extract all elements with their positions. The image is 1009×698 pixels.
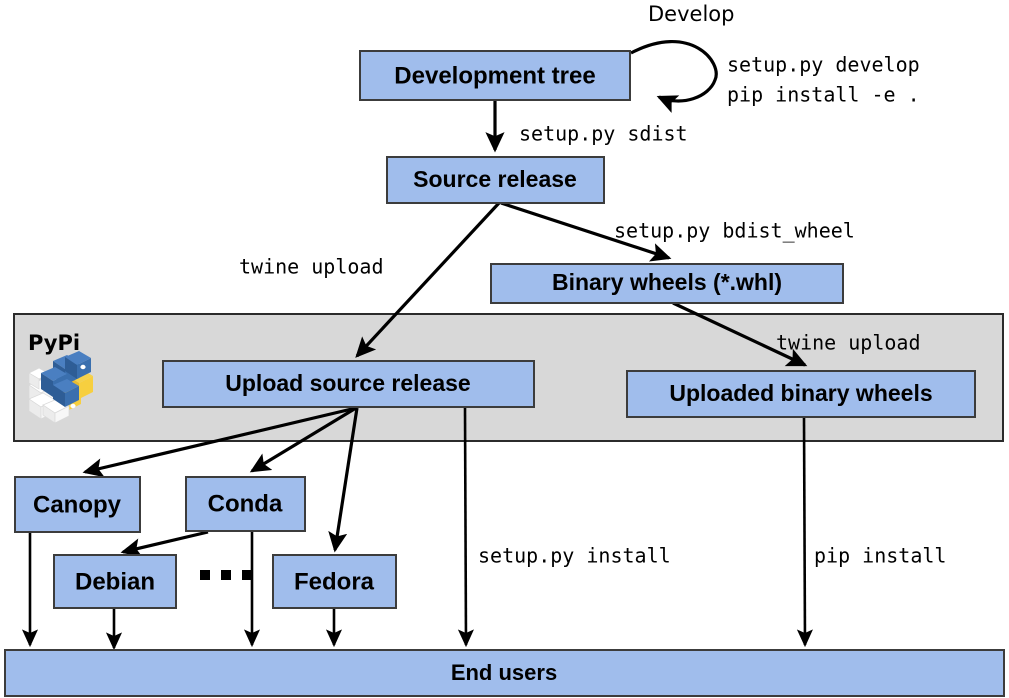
edge-label-setup-py-bdist-wheel: setup.py bdist_wheel xyxy=(614,219,855,243)
edge-label-develop: Develop xyxy=(648,2,734,26)
node-development-tree-label: Development tree xyxy=(394,62,595,89)
node-fedora[interactable]: Fedora xyxy=(273,555,396,608)
pypi-group-label: PyPi xyxy=(28,331,80,355)
edge-uploaded-wheels-to-endusers xyxy=(804,418,805,645)
edge-label-setup-py-install: setup.py install xyxy=(478,544,671,568)
edge-upload-to-endusers xyxy=(465,408,466,645)
node-uploaded-binary-wheels[interactable]: Uploaded binary wheels xyxy=(627,371,975,417)
node-upload-source-release[interactable]: Upload source release xyxy=(163,361,534,407)
edge-label-pip-install-editable: pip install -e . xyxy=(727,83,920,107)
edge-label-twine-upload-wheels: twine upload xyxy=(776,331,921,355)
node-conda-label: Conda xyxy=(208,490,283,517)
diagram-canvas: Development tree Source release Binary w… xyxy=(0,0,1009,698)
edge-conda-to-debian xyxy=(123,532,208,552)
edge-label-setup-py-sdist: setup.py sdist xyxy=(519,122,688,146)
node-source-release[interactable]: Source release xyxy=(387,157,604,203)
node-binary-wheels[interactable]: Binary wheels (*.whl) xyxy=(491,264,843,303)
node-upload-source-release-label: Upload source release xyxy=(225,370,470,396)
edge-develop-selfloop xyxy=(631,42,716,101)
node-debian[interactable]: Debian xyxy=(54,555,176,608)
edge-label-twine-upload-source: twine upload xyxy=(239,255,384,279)
node-development-tree[interactable]: Development tree xyxy=(360,51,630,100)
edge-label-setup-py-develop: setup.py develop xyxy=(727,53,920,77)
node-conda[interactable]: Conda xyxy=(186,477,305,531)
node-binary-wheels-label: Binary wheels (*.whl) xyxy=(552,269,782,295)
node-source-release-label: Source release xyxy=(413,166,577,192)
node-canopy-label: Canopy xyxy=(33,491,122,518)
node-canopy[interactable]: Canopy xyxy=(15,477,140,532)
packaging-flow-diagram: Development tree Source release Binary w… xyxy=(0,0,1009,698)
node-debian-label: Debian xyxy=(75,568,155,595)
edge-label-pip-install: pip install xyxy=(814,544,946,568)
more-distros-ellipsis-icon xyxy=(200,570,252,580)
node-fedora-label: Fedora xyxy=(294,568,375,595)
node-end-users[interactable]: End users xyxy=(5,650,1004,696)
node-end-users-label: End users xyxy=(451,660,557,685)
node-uploaded-binary-wheels-label: Uploaded binary wheels xyxy=(669,380,932,406)
